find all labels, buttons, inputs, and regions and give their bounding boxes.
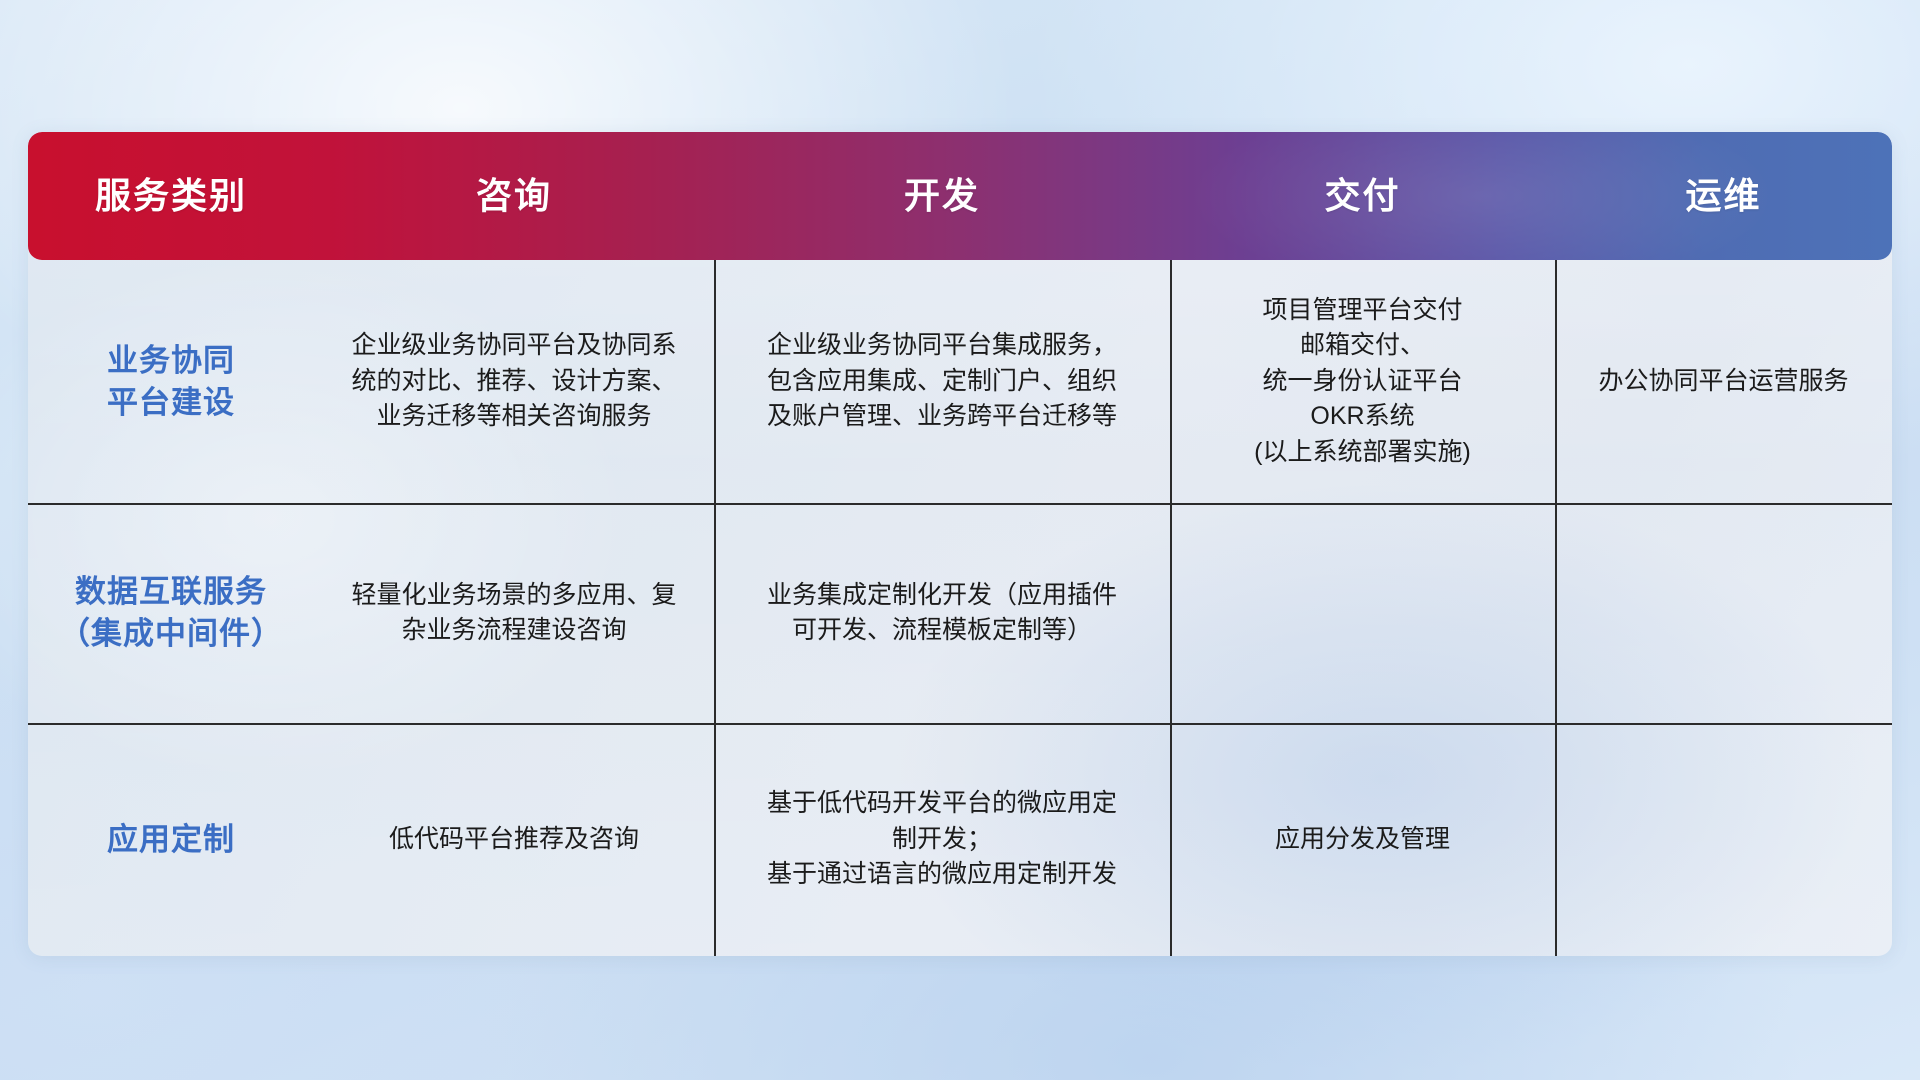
cell-consulting-row1: 企业级业务协同平台及协同系 统的对比、推荐、设计方案、 业务迁移等相关咨询服务	[314, 328, 714, 435]
cell-operations-row2	[1555, 503, 1892, 723]
cell-operations-row1: 办公协同平台运营服务	[1555, 260, 1892, 503]
table-row: 业务协同 平台建设 企业级业务协同平台及协同系 统的对比、推荐、设计方案、 业务…	[28, 260, 714, 503]
table-row: 应用定制 低代码平台推荐及咨询	[28, 723, 714, 956]
cell-operations-row3	[1555, 723, 1892, 956]
service-matrix-table: 服务类别 咨询 开发 交付 运维 业务协同 平台建设 企业级业务协同平台及协同系…	[28, 132, 1892, 956]
table-header-row: 服务类别 咨询 开发 交付 运维	[28, 132, 1892, 260]
header-cell-operations: 运维	[1555, 176, 1892, 216]
row-divider-2	[28, 723, 1892, 725]
header-cell-category: 服务类别	[28, 176, 314, 216]
header-cell-delivery: 交付	[1170, 176, 1555, 216]
header-cell-development: 开发	[714, 176, 1170, 216]
row-label-business-collaboration: 业务协同 平台建设	[28, 340, 314, 424]
header-cell-consulting: 咨询	[314, 176, 714, 216]
cell-development-row3: 基于低代码开发平台的微应用定 制开发； 基于通过语言的微应用定制开发	[714, 723, 1170, 956]
row-label-app-customization: 应用定制	[28, 819, 314, 861]
cell-delivery-row1: 项目管理平台交付 邮箱交付、 统一身份认证平台 OKR系统 (以上系统部署实施)	[1170, 260, 1555, 503]
table-row: 数据互联服务 （集成中间件） 轻量化业务场景的多应用、复 杂业务流程建设咨询	[28, 503, 714, 723]
cell-delivery-row2	[1170, 503, 1555, 723]
cell-consulting-row2: 轻量化业务场景的多应用、复 杂业务流程建设咨询	[314, 578, 714, 649]
cell-development-row2: 业务集成定制化开发（应用插件 可开发、流程模板定制等）	[714, 503, 1170, 723]
cell-delivery-row3: 应用分发及管理	[1170, 723, 1555, 956]
cell-consulting-row3: 低代码平台推荐及咨询	[314, 822, 714, 858]
slide-canvas: 服务类别 咨询 开发 交付 运维 业务协同 平台建设 企业级业务协同平台及协同系…	[0, 0, 1920, 1080]
row-divider-1	[28, 503, 1892, 505]
row-label-data-interconnect: 数据互联服务 （集成中间件）	[28, 571, 314, 655]
cell-development-row1: 企业级业务协同平台集成服务， 包含应用集成、定制门户、组织 及账户管理、业务跨平…	[714, 260, 1170, 503]
table-body: 业务协同 平台建设 企业级业务协同平台及协同系 统的对比、推荐、设计方案、 业务…	[28, 260, 1892, 956]
